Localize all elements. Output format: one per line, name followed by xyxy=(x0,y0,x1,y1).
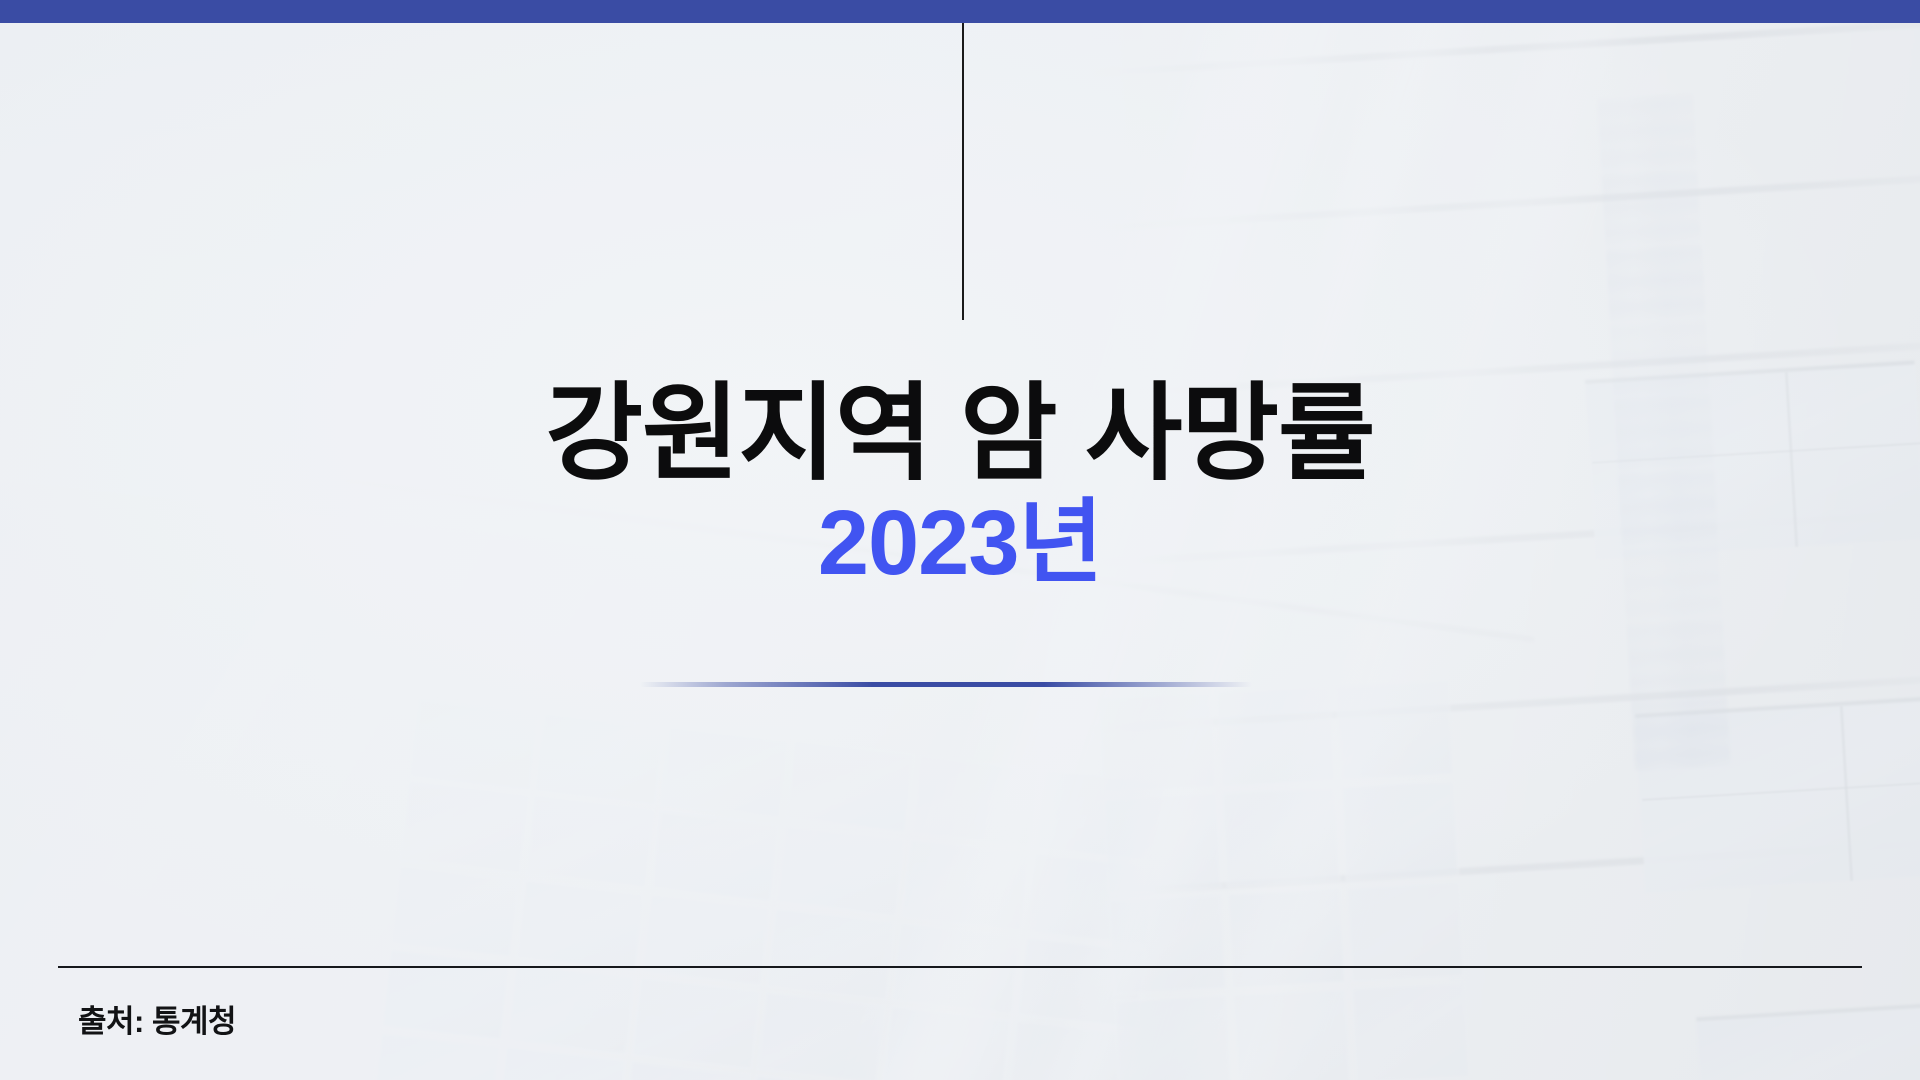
footer-divider xyxy=(58,966,1862,968)
title-underline xyxy=(640,682,1252,687)
vertical-divider xyxy=(962,23,964,320)
source-label: 출처: 통계청 xyxy=(78,996,236,1041)
title-slide: 강원지역 암 사망률 2023년 출처: 통계청 xyxy=(0,0,1920,1080)
photo-highlight-overlay xyxy=(0,0,1920,1080)
building-photo-backdrop xyxy=(0,0,1920,1080)
top-accent-bar xyxy=(0,0,1920,23)
